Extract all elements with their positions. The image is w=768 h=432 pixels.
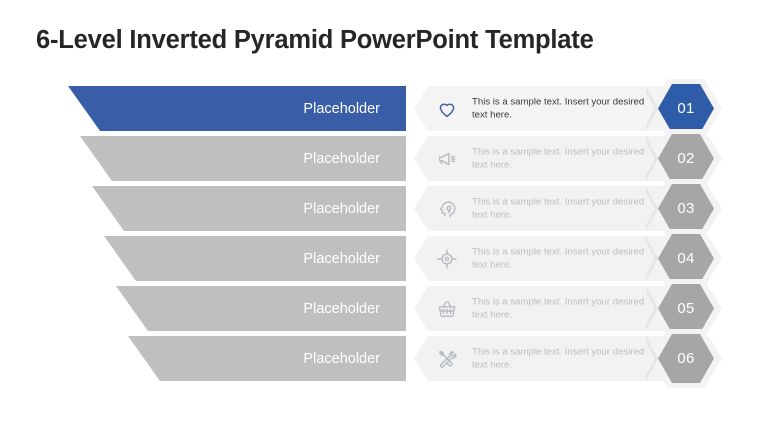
description-bar[interactable]: This is a sample text. Insert your desir… (414, 236, 670, 281)
level-number: 02 (677, 150, 694, 167)
slide-canvas: 6-Level Inverted Pyramid PowerPoint Temp… (0, 0, 768, 432)
level-number-badge[interactable]: 05 (652, 286, 722, 331)
bar-notch (414, 186, 428, 231)
level-number: 05 (677, 300, 694, 317)
basket-icon (432, 294, 462, 324)
bar-notch (414, 236, 428, 281)
bar-notch (414, 86, 428, 131)
description-bar[interactable]: This is a sample text. Insert your desir… (414, 186, 670, 231)
level-number: 06 (677, 350, 694, 367)
description-bar[interactable]: This is a sample text. Insert your desir… (414, 136, 670, 181)
level-number-badge[interactable]: 02 (652, 136, 722, 181)
level-number: 03 (677, 200, 694, 217)
level-number: 04 (677, 250, 694, 267)
pyramid-band-label: Placeholder (303, 151, 380, 167)
pyramid-band[interactable]: Placeholder (116, 286, 406, 331)
heart-icon (432, 94, 462, 124)
description-text: This is a sample text. Insert your desir… (472, 295, 647, 322)
pyramid-band-label: Placeholder (303, 251, 380, 267)
bar-notch (414, 136, 428, 181)
pyramid-level-row[interactable]: Placeholder This is a sample text. Inser… (0, 286, 768, 331)
description-text: This is a sample text. Insert your desir… (472, 195, 647, 222)
description-text: This is a sample text. Insert your desir… (472, 145, 647, 172)
bar-notch (414, 286, 428, 331)
pyramid-level-row[interactable]: Placeholder This is a sample text. Inser… (0, 336, 768, 381)
description-text: This is a sample text. Insert your desir… (472, 95, 647, 122)
bar-notch (414, 336, 428, 381)
level-number-badge[interactable]: 01 (652, 86, 722, 131)
level-number-badge[interactable]: 06 (652, 336, 722, 381)
pyramid-level-row[interactable]: Placeholder This is a sample text. Inser… (0, 236, 768, 281)
megaphone-icon (432, 144, 462, 174)
pyramid-level-row[interactable]: Placeholder This is a sample text. Inser… (0, 86, 768, 131)
pyramid-band-label: Placeholder (303, 301, 380, 317)
target-icon (432, 244, 462, 274)
pyramid-level-row[interactable]: Placeholder This is a sample text. Inser… (0, 136, 768, 181)
pyramid-band[interactable]: Placeholder (68, 86, 406, 131)
pyramid-band-label: Placeholder (303, 351, 380, 367)
pyramid-band[interactable]: Placeholder (80, 136, 406, 181)
pyramid-band[interactable]: Placeholder (104, 236, 406, 281)
pyramid-band-label: Placeholder (303, 101, 380, 117)
description-text: This is a sample text. Insert your desir… (472, 245, 647, 272)
description-bar[interactable]: This is a sample text. Insert your desir… (414, 286, 670, 331)
tools-icon (432, 344, 462, 374)
description-bar[interactable]: This is a sample text. Insert your desir… (414, 86, 670, 131)
description-text: This is a sample text. Insert your desir… (472, 345, 647, 372)
pyramid-level-row[interactable]: Placeholder This is a sample text. Inser… (0, 186, 768, 231)
page-title: 6-Level Inverted Pyramid PowerPoint Temp… (36, 26, 594, 55)
level-number-badge[interactable]: 03 (652, 186, 722, 231)
description-bar[interactable]: This is a sample text. Insert your desir… (414, 336, 670, 381)
head-idea-icon (432, 194, 462, 224)
pyramid-band-label: Placeholder (303, 201, 380, 217)
level-number: 01 (677, 100, 694, 117)
pyramid-band[interactable]: Placeholder (128, 336, 406, 381)
pyramid-band[interactable]: Placeholder (92, 186, 406, 231)
inverted-pyramid-diagram: Placeholder This is a sample text. Inser… (0, 86, 768, 386)
level-number-badge[interactable]: 04 (652, 236, 722, 281)
